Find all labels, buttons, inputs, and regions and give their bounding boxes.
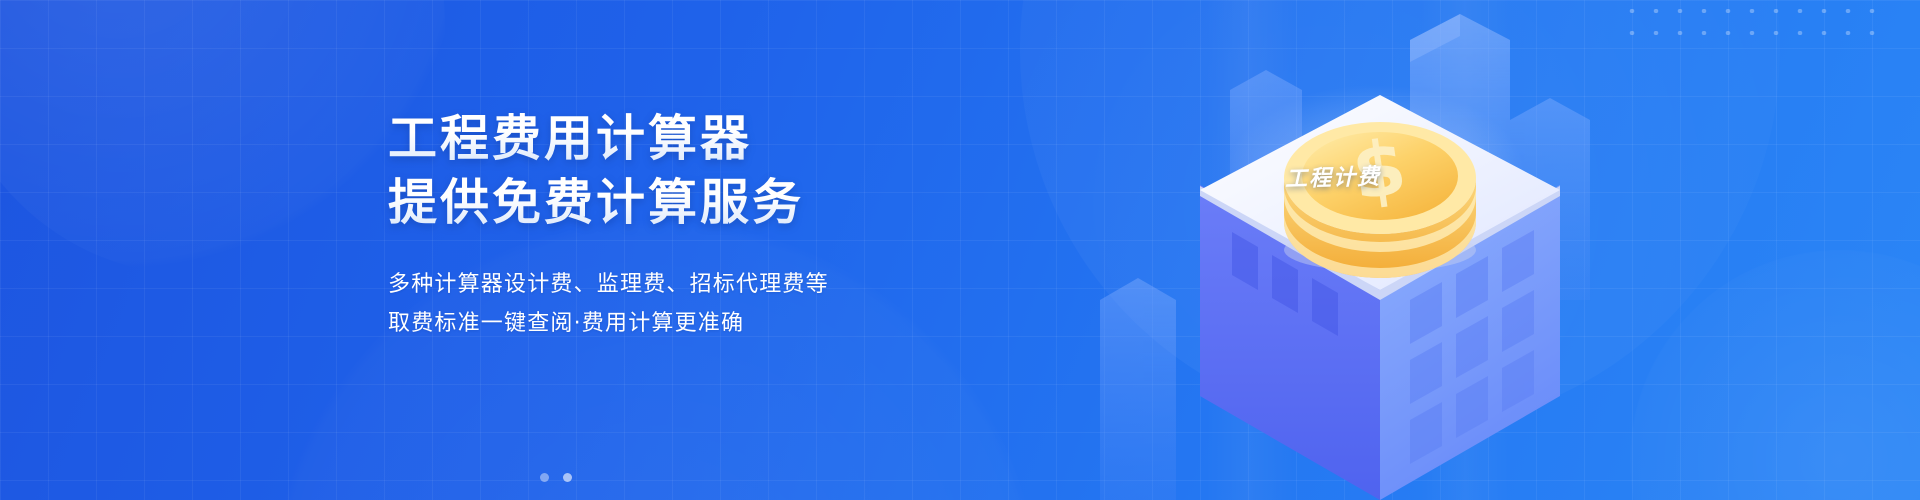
carousel-dot-1[interactable]	[540, 473, 549, 482]
carousel-dot-2[interactable]	[563, 473, 572, 482]
decorative-circle-top-left	[0, 0, 445, 275]
hero-banner: 工程费用计算器 提供免费计算服务 多种计算器设计费、监理费、招标代理费等 取费标…	[0, 0, 1920, 500]
illustration-badge-label: 工程计费	[1285, 159, 1382, 194]
banner-copy-block: 工程费用计算器 提供免费计算服务 多种计算器设计费、监理费、招标代理费等 取费标…	[388, 110, 948, 343]
gold-coin-stack: $	[1284, 122, 1476, 278]
banner-headline-line-1: 工程费用计算器	[388, 110, 948, 168]
banner-subtitle-line-1: 多种计算器设计费、监理费、招标代理费等	[388, 265, 948, 304]
isometric-building-illustration: $	[1080, 0, 1700, 500]
banner-subtitle-line-2: 取费标准一键查阅·费用计算更准确	[388, 304, 948, 343]
banner-headline-line-2: 提供免费计算服务	[388, 174, 948, 232]
carousel-pagination[interactable]	[540, 473, 572, 482]
